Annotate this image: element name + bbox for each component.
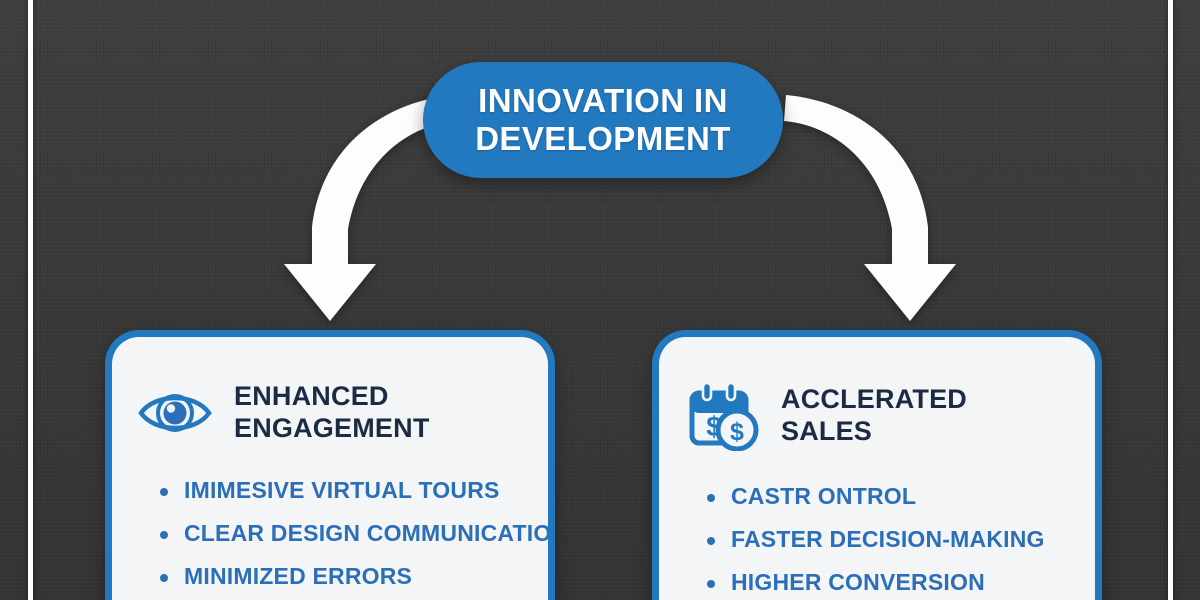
calendar-dollar-icon: $ $ [683,381,761,451]
card-title: ENHANCED ENGAGEMENT [234,381,430,445]
right-rail [1168,0,1173,600]
list-item: FASTER DECISION-MAKING [707,528,1095,551]
main-title-pill: INNOVATION IN DEVELOPMENT [423,62,783,178]
svg-text:$: $ [730,418,744,446]
card-title: ACCLERATED SALES [781,384,967,448]
left-rail [28,0,33,600]
list-item: MINIMIZED ERRORS [160,565,548,588]
list-item: HIGHER CONVERSION [707,571,1095,594]
arrow-to-right-card [762,95,952,310]
card-header: ENHANCED ENGAGEMENT [112,337,548,445]
benefit-list: IMIMESIVE VIRTUAL TOURS CLEAR DESIGN COM… [112,445,548,588]
page-title: INNOVATION IN DEVELOPMENT [457,82,749,159]
list-item: CLEAR DESIGN COMMUNICATION [160,522,548,545]
benefit-list: CASTR ONTROL FASTER DECISION-MAKING HIGH… [659,451,1095,594]
eye-icon [136,387,214,439]
card-header: $ $ ACCLERATED SALES [659,337,1095,451]
card-acclerated-sales: $ $ ACCLERATED SALES CASTR ONTROL FASTER… [652,330,1102,600]
list-item: CASTR ONTROL [707,485,1095,508]
card-enhanced-engagement: ENHANCED ENGAGEMENT IMIMESIVE VIRTUAL TO… [105,330,555,600]
list-item: IMIMESIVE VIRTUAL TOURS [160,479,548,502]
infographic-canvas: INNOVATION IN DEVELOPMENT ENHANCED ENGAG… [0,0,1200,600]
